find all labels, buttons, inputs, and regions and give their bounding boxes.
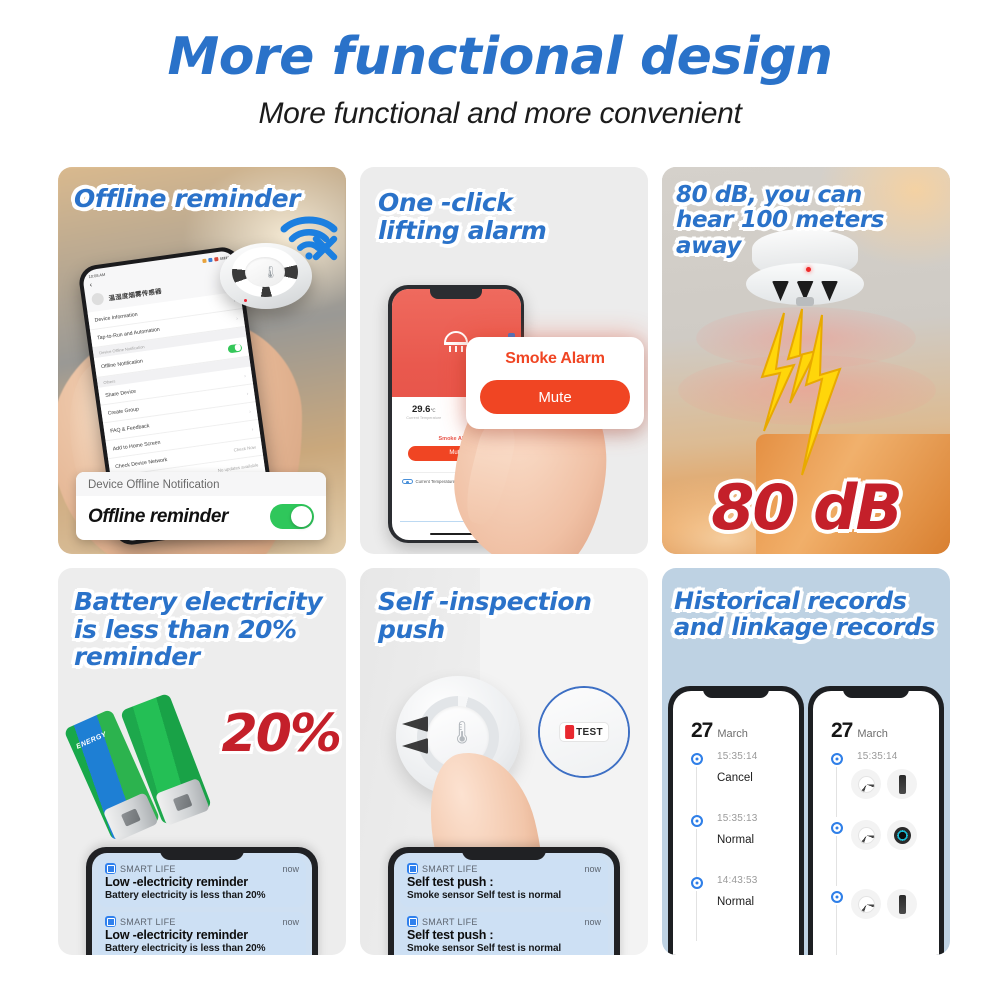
phone-screen: 27 March 15:35:14: [813, 691, 939, 955]
smart-life-app-icon: [407, 863, 418, 874]
notification-app-name: SMART LIFE: [120, 864, 176, 874]
door-sensor-icon: [887, 769, 917, 799]
phone-mockup-linkage: 27 March 15:35:14: [808, 686, 944, 955]
card-self-inspection-push[interactable]: Self -inspection push 🌡 TEST: [360, 568, 648, 955]
decibel-badge: 80 dB: [662, 471, 950, 544]
row-label: Device Information: [94, 311, 138, 323]
card-offline-reminder[interactable]: 10:08 AM ▮▮▮▮▮ ‹ 温湿度烟雾传感器 ✎ Device Infor…: [58, 167, 346, 554]
stat-temperature: 29.6℃ Current Temperature: [392, 397, 457, 426]
caption-line-2: hear 100 meters: [676, 208, 884, 233]
card-caption: One -click lifting alarm: [378, 189, 546, 244]
page-title: More functional design: [0, 30, 1000, 85]
notification-app-name: SMART LIFE: [120, 917, 176, 927]
row-label: Create Group: [107, 406, 139, 416]
date-day: 27: [691, 719, 712, 743]
timeline-entry[interactable]: [831, 820, 939, 882]
row-label: Check Device Network: [115, 457, 168, 470]
timeline-entry[interactable]: 15:35:14 Cancel: [691, 751, 799, 813]
timeline-dot-icon: [831, 753, 843, 765]
phone-screen: SMART LIFE now Self test push : Smoke se…: [394, 853, 614, 955]
date-header: 27 March: [813, 697, 939, 751]
notification-time: now: [584, 864, 601, 874]
smart-life-app-icon: [105, 916, 116, 927]
entry-status: Cancel: [717, 772, 799, 784]
card-80db-alarm[interactable]: 80 dB, you can hear 100 meters away 80 d…: [662, 167, 950, 554]
feature-card-grid: 10:08 AM ▮▮▮▮▮ ‹ 温湿度烟雾传感器 ✎ Device Infor…: [58, 167, 948, 955]
caption-line-2: push: [378, 616, 592, 644]
temperature-unit: ℃: [430, 408, 435, 413]
smoke-sensor-icon: [851, 820, 881, 850]
wifi-off-icon: [278, 211, 340, 263]
test-button-label: TEST: [576, 727, 603, 738]
card-historical-records[interactable]: Historical records and linkage records 2…: [662, 568, 950, 955]
row-label: FAQ & Feedback: [110, 423, 150, 434]
test-button[interactable]: TEST: [559, 722, 609, 742]
phone-mockup: SMART LIFE now Low -electricity reminder…: [86, 847, 318, 955]
smoke-alarm-popup[interactable]: Smoke Alarm Mute: [466, 337, 644, 429]
phone-notch: [160, 847, 244, 860]
timeline: 15:35:14: [813, 751, 939, 951]
offline-notification-toggle[interactable]: [227, 343, 242, 353]
phone-pair: 27 March 15:35:14 Cancel: [662, 686, 950, 955]
device-name: 温湿度烟雾传感器: [108, 286, 162, 302]
card-caption: 80 dB, you can hear 100 meters away: [676, 183, 884, 259]
device-avatar-icon: [91, 292, 105, 306]
caption-line-3: away: [676, 234, 884, 259]
overlay-label: Offline reminder: [88, 506, 228, 528]
percent-badge: 20%: [222, 704, 340, 764]
phone-screen: 27 March 15:35:14 Cancel: [673, 691, 799, 955]
notification-time: now: [282, 864, 299, 874]
smart-life-app-icon: [105, 863, 116, 874]
notification-time: now: [584, 917, 601, 927]
notification-title: Low -electricity reminder: [105, 928, 299, 942]
notification-item[interactable]: SMART LIFE now Low -electricity reminder…: [98, 912, 306, 955]
entry-time: 15:35:14: [717, 751, 799, 762]
linkage-icons: [851, 820, 939, 850]
notification-app-name: SMART LIFE: [422, 864, 478, 874]
chevron-right-icon: ›: [246, 391, 248, 397]
phone-screen: SMART LIFE now Low -electricity reminder…: [92, 853, 312, 955]
notification-body: Battery electricity is less than 20%: [105, 943, 299, 954]
phone-notch: [843, 686, 909, 698]
linkage-icons: [851, 889, 939, 919]
temperature-label: Current Temperature: [392, 416, 457, 420]
phone-notch: [462, 847, 546, 860]
timeline-entry[interactable]: 15:35:13 Normal: [691, 813, 799, 875]
caption-line-1: One -click: [378, 189, 546, 217]
notification-time: now: [282, 917, 299, 927]
notification-title: Self test push :: [407, 928, 601, 942]
notification-item[interactable]: SMART LIFE now Low -electricity reminder…: [98, 859, 306, 907]
row-value: Check Now: [233, 445, 256, 453]
timeline-entry[interactable]: 14:43:53 Normal: [691, 875, 799, 937]
popup-title: Smoke Alarm: [480, 350, 630, 368]
timeline-entry[interactable]: [831, 889, 939, 951]
phone-mockup-history: 27 March 15:35:14 Cancel: [668, 686, 804, 955]
card-one-click-lifting-alarm[interactable]: One -click lifting alarm: [360, 167, 648, 554]
chevron-right-icon: ›: [244, 373, 246, 379]
row-label: Share Device: [105, 388, 137, 398]
lightning-bolt-icon: [736, 307, 866, 482]
notification-item[interactable]: SMART LIFE now Self test push : Smoke se…: [400, 912, 608, 955]
timeline-dot-icon: [831, 891, 843, 903]
phone-notch: [703, 686, 769, 698]
legend-marker-icon: [402, 479, 413, 484]
timeline-dot-icon: [831, 822, 843, 834]
row-label: Tap-to-Run and Automation: [97, 326, 160, 341]
date-month: March: [857, 728, 888, 740]
test-indicator-icon: [565, 725, 574, 739]
notification-title: Low -electricity reminder: [105, 875, 299, 889]
timeline-dot-icon: [691, 815, 703, 827]
date-day: 27: [831, 719, 852, 743]
caption-line-1: Historical records: [674, 588, 935, 614]
notification-body: Smoke sensor Self test is normal: [407, 943, 601, 954]
caption-line-1: Battery electricity: [74, 588, 322, 616]
offline-notification-overlay[interactable]: Device Offline Notification Offline remi…: [76, 472, 326, 540]
date-month: March: [717, 728, 748, 740]
page-subtitle: More functional and more convenient: [0, 97, 1000, 131]
card-caption: Battery electricity is less than 20% rem…: [74, 588, 322, 671]
notification-body: Smoke sensor Self test is normal: [407, 890, 601, 901]
offline-reminder-toggle[interactable]: [270, 504, 314, 529]
chevron-right-icon: ›: [251, 426, 253, 432]
card-low-battery-reminder[interactable]: Battery electricity is less than 20% rem…: [58, 568, 346, 955]
entry-status: Normal: [717, 834, 799, 846]
test-button-zoom-circle: TEST: [538, 686, 630, 778]
notification-title: Self test push :: [407, 875, 601, 889]
entry-time: 14:43:53: [717, 875, 799, 886]
caption-line-2: lifting alarm: [378, 217, 546, 245]
notification-app-name: SMART LIFE: [422, 917, 478, 927]
caption-line-1: 80 dB, you can: [676, 183, 884, 208]
row-label: Add to Home Screen: [112, 439, 161, 452]
temperature-value: 29.6: [412, 404, 431, 415]
camera-icon: [887, 820, 917, 850]
card-caption: Offline reminder: [74, 185, 300, 213]
battery-brand-label: ENERGY: [75, 731, 108, 751]
card-caption: Self -inspection push: [378, 588, 592, 643]
caption-line-2: is less than 20%: [74, 616, 322, 644]
phone-mockup: SMART LIFE now Self test push : Smoke se…: [388, 847, 620, 955]
date-header: 27 March: [673, 697, 799, 751]
notification-item[interactable]: SMART LIFE now Self test push : Smoke se…: [400, 859, 608, 907]
smart-life-app-icon: [407, 916, 418, 927]
entry-time: 15:35:13: [717, 813, 799, 824]
smoke-sensor-icon: [851, 769, 881, 799]
row-label: Offline Notification: [101, 358, 143, 370]
chevron-right-icon: ›: [249, 408, 251, 414]
entry-status: Normal: [717, 896, 799, 908]
timeline: 15:35:14 Cancel 15:35:13 Normal: [673, 751, 799, 937]
card-caption: Historical records and linkage records: [674, 588, 935, 641]
caption-line-3: reminder: [74, 643, 322, 671]
door-sensor-icon: [887, 889, 917, 919]
page-header: More functional design More functional a…: [0, 0, 1000, 131]
timeline-dot-icon: [691, 753, 703, 765]
phone-notch: [430, 289, 482, 299]
linkage-icons: [851, 769, 939, 799]
popup-mute-button[interactable]: Mute: [480, 380, 630, 414]
timeline-dot-icon: [691, 877, 703, 889]
smoke-sensor-icon: [851, 889, 881, 919]
notification-body: Battery electricity is less than 20%: [105, 890, 299, 901]
caption-line-2: and linkage records: [674, 614, 935, 640]
entry-time: 15:35:14: [857, 751, 939, 762]
caption-line-1: Self -inspection: [378, 588, 592, 616]
timeline-entry[interactable]: 15:35:14: [831, 751, 939, 813]
overlay-title: Device Offline Notification: [76, 472, 326, 496]
